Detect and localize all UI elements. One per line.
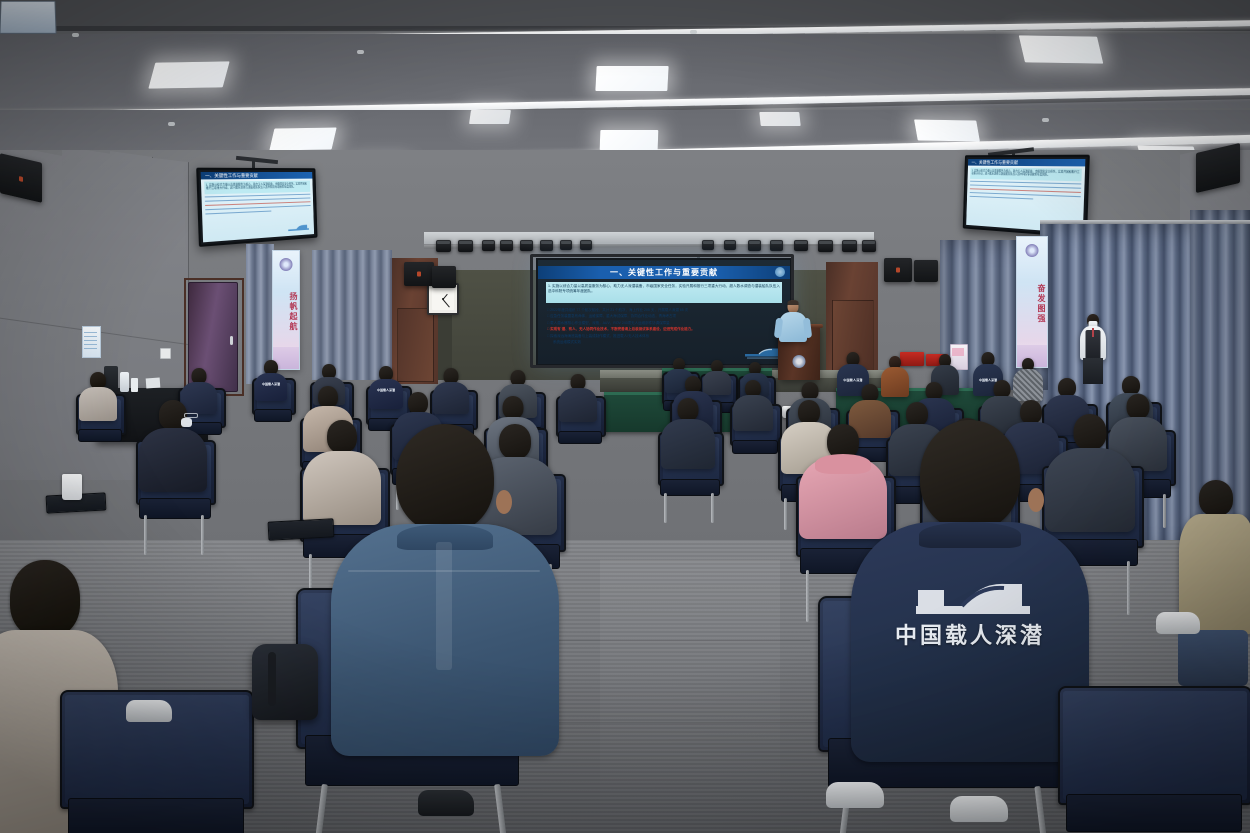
stage-light-3 (482, 240, 495, 251)
banner-right: 奋发图强 (1016, 236, 1048, 368)
clock-center-pin (442, 298, 444, 300)
banner-right-text: 奋发图强 (1017, 263, 1047, 345)
stage-light-7 (560, 240, 572, 250)
attendee-head (798, 400, 820, 424)
attendee-foreground-denim (330, 424, 560, 754)
attendee-ear (496, 490, 512, 514)
banner-left: 扬帆起航 (272, 250, 300, 370)
sprinkler-head-1 (357, 50, 364, 54)
sneaker-right-edge (1156, 612, 1200, 634)
jacket-logo-text: 中国载人深潜 (895, 618, 1045, 650)
stage-light-6 (540, 240, 553, 251)
lectern-emblem-icon (793, 355, 806, 368)
attendee-mid-l8 (78, 372, 118, 420)
attendee-right-edge-tan (1178, 480, 1250, 680)
presenter-torso (779, 312, 807, 342)
stage-light-14 (818, 240, 833, 252)
stage-light-4 (500, 240, 513, 251)
chair-leg (201, 515, 204, 555)
backpack-strap (268, 652, 276, 706)
chair-leg (1163, 494, 1166, 528)
projection-screen: 一、关键性工作与重要贡献 1. 实施以综合力量以高质量服务为核心，助力无人深潜装… (536, 258, 792, 366)
stage-curtain-left-outer (312, 250, 392, 380)
monitor-bullet-lines (970, 181, 1082, 202)
jacket-collar (919, 522, 1021, 548)
water-cup-stack (131, 378, 138, 392)
attendee-jeans (1178, 630, 1248, 686)
shoe-foreground-3 (950, 796, 1008, 822)
sprinkler-head-2 (72, 33, 79, 37)
attendee-ear (1028, 488, 1044, 512)
attendee-head (318, 386, 338, 408)
chair-leg (494, 784, 508, 833)
ceiling-light-panel-4 (595, 66, 668, 91)
ceiling-recess-band-1 (0, 0, 1250, 26)
ceiling-light-panel-1 (148, 61, 229, 88)
chair-leg (1127, 561, 1130, 615)
institute-seal-icon (280, 258, 293, 271)
institute-seal-icon (775, 267, 785, 277)
monitor-bullet-lines (205, 194, 311, 215)
speaker-led (19, 176, 23, 182)
stage-light-1 (436, 240, 451, 252)
stage-light-2 (458, 240, 473, 252)
chair-leg (784, 498, 787, 530)
monitor-submersible-logo (286, 221, 310, 234)
stage-light-11 (748, 240, 761, 251)
left-monitor-screen: 一、关键性工作与重要贡献 1. 实施以综合力量以高质量服务为核心，助力无人深潜装… (201, 172, 314, 242)
ceiling-light-panel-11 (469, 110, 511, 124)
stage-light-15 (842, 240, 857, 252)
curtain-rod (1040, 220, 1250, 224)
attendee-t4-l1 (138, 400, 208, 492)
staff-member-standing (1078, 314, 1108, 384)
laptop-on-tablet (0, 1, 57, 34)
attendee-torso (255, 373, 287, 401)
attendee-torso (139, 428, 207, 492)
chair-seat (68, 798, 245, 833)
chair-leg (314, 784, 328, 833)
attendee-head (1199, 480, 1233, 516)
sprinkler-head-3 (690, 30, 697, 34)
shoe-foreground-2 (826, 782, 884, 808)
speaker-led (417, 272, 421, 277)
stage-light-16 (862, 240, 876, 252)
ceiling-light-panel-7 (1019, 35, 1104, 63)
chair-leg (806, 570, 809, 622)
stage-light-13 (794, 240, 808, 251)
attendee-mid-l1: 中国载人深潜 (254, 360, 288, 400)
chair-seat (732, 440, 778, 454)
staff-lanyard (1092, 328, 1094, 337)
attendee-t3-r1 (660, 398, 716, 468)
shoe-foreground-1 (418, 790, 474, 816)
stage-light-8 (580, 240, 592, 250)
ceiling-light-panel-8 (914, 119, 980, 141)
stage-light-9 (702, 240, 714, 250)
wall-speaker-stage-right-upper (884, 258, 912, 282)
ceiling-light-panel-5 (600, 130, 659, 150)
attendee-foreground-navy-jacket: 中国载人深潜 (850, 420, 1090, 760)
ceiling-light-panel-12 (759, 112, 800, 126)
water-bottle (120, 372, 129, 392)
attendee-torso (79, 387, 117, 421)
chair-leg (144, 515, 147, 555)
ceiling-light-panel-2 (269, 127, 336, 150)
attendee-torso (661, 419, 715, 469)
attendee-head (678, 398, 699, 421)
chair-leg (711, 493, 714, 523)
presenter-hair (788, 300, 799, 305)
eyeglasses-icon (184, 413, 198, 418)
conference-hall-photo: 一、关键性工作与重要贡献 1. 实施以综合力量以高质量服务为核心，助力无人深潜装… (0, 0, 1250, 833)
monitor-highlight-text: 1. 实施以综合力量以高质量服务为核心，助力无人深潜装备，市级国家安全任务，实验… (970, 168, 1082, 179)
slide-highlight-paragraph: 1. 实施以综合力量以高质量服务为核心，助力无人深潜装备，市级国家安全任务，实验… (546, 282, 782, 303)
chair-writing-tablet-2 (268, 518, 335, 540)
attendee-torso (559, 388, 597, 422)
attendee-mid-l6 (558, 374, 598, 422)
shoe-mid-left (126, 700, 172, 722)
thermos-on-tablet (62, 474, 82, 500)
left-wall-monitor: 一、关键性工作与重要贡献 1. 实施以综合力量以高质量服务为核心，助力无人深潜装… (196, 168, 317, 247)
attendee-head (408, 392, 428, 414)
backpack-on-floor (252, 644, 318, 720)
monitor-slide-title: 一、关键性工作与重要贡献 (201, 172, 313, 179)
speaker-led (896, 268, 900, 273)
sprinkler-head-5 (1042, 118, 1049, 122)
slide-title: 一、关键性工作与重要贡献 (538, 266, 790, 279)
presenter (776, 300, 810, 344)
monitor-slide-highlight: 1. 实施以综合力量以高质量服务为核心，助力无人深潜装备，市级国家安全任务，实验… (970, 168, 1082, 182)
chair-leg (1034, 785, 1047, 833)
stage-light-12 (770, 240, 783, 251)
attendee-mid-r2 (732, 380, 774, 430)
wall-speaker-stage-left-lower (432, 266, 456, 288)
jacket-logo-text: 中国载人深潜 (262, 382, 280, 386)
chair-seat (78, 429, 122, 443)
chair-leg (664, 493, 667, 523)
attendee-torso (733, 395, 773, 431)
monitor-highlight-text: 1. 实施以综合力量以高质量服务为核心，助力无人深潜装备，市级国家安全任务，实验… (204, 181, 310, 192)
monitor-slide-title: 一、关键性工作与重要贡献 (968, 159, 1085, 166)
attendee-head (10, 560, 80, 638)
sprinkler-head-4 (168, 122, 175, 126)
attendee-head (920, 420, 1020, 530)
face-mask-icon (181, 418, 192, 427)
banner-left-text: 扬帆起航 (273, 277, 299, 347)
chair-fg-bottom-right (1058, 686, 1248, 833)
wall-speaker-stage-left-upper (404, 262, 434, 286)
stage-light-10 (724, 240, 736, 250)
shirt-center-pleat (436, 542, 452, 670)
attendee-head (396, 424, 494, 532)
paper-on-cabinet (146, 378, 161, 389)
chair-seat (254, 409, 293, 421)
stage-light-5 (520, 240, 533, 251)
light-switch-plate[interactable] (160, 348, 171, 359)
institute-seal-icon (1026, 244, 1039, 257)
chair-back (1058, 686, 1250, 805)
attendee-head (503, 396, 524, 419)
wall-poster-text (84, 331, 97, 349)
chair-seat (558, 431, 602, 445)
submersible-logo-mark (902, 572, 1034, 624)
aisle-highlight (600, 560, 780, 833)
jacket-logo-text: 中国载人深潜 (843, 378, 862, 382)
wall-speaker-stage-right-lower (914, 260, 938, 282)
monitor-slide-highlight: 1. 实施以综合力量以高质量服务为核心，助力无人深潜装备，市级国家安全任务，实验… (204, 181, 310, 195)
chair-seat (1066, 794, 1243, 832)
